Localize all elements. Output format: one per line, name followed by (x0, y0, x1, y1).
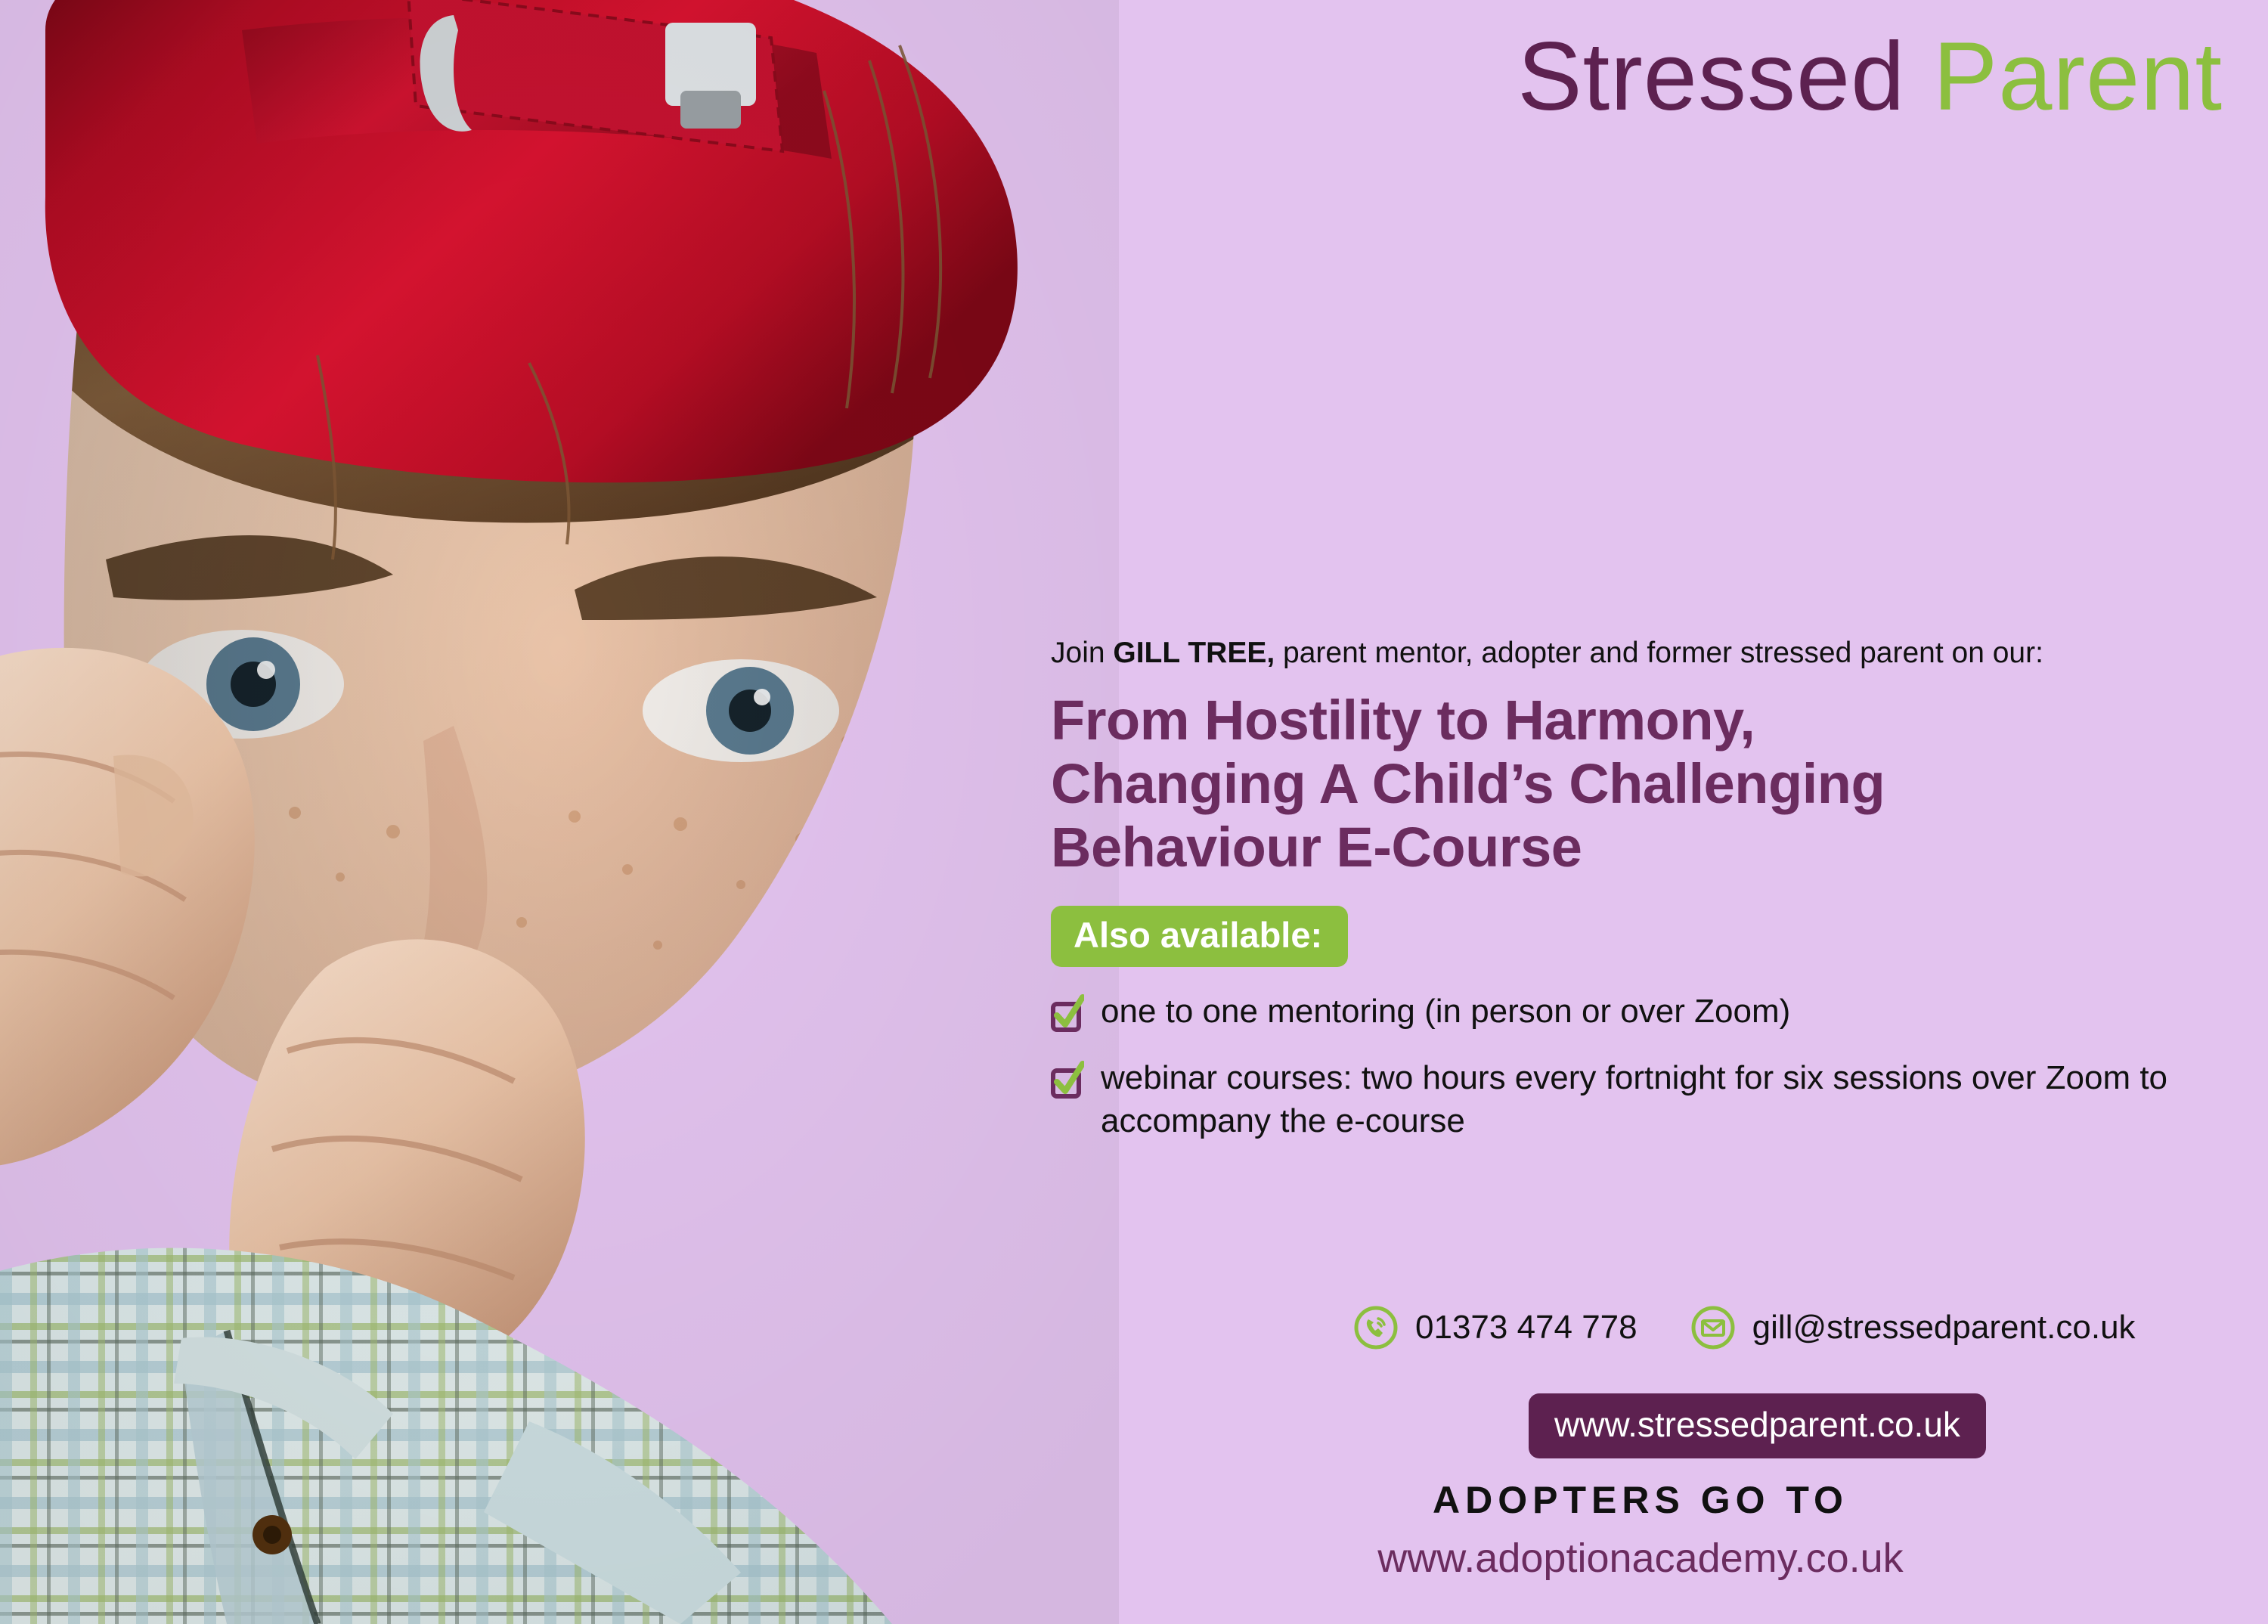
checkbox-checked-icon (1051, 994, 1084, 1034)
checkbox-checked-icon (1051, 1061, 1084, 1100)
content-column: Join GILL TREE, parent mentor, adopter a… (1051, 635, 2230, 1166)
also-available-badge: Also available: (1051, 906, 1348, 967)
list-item: one to one mentoring (in person or over … (1051, 990, 2230, 1034)
phone-icon (1353, 1305, 1399, 1350)
page-title: From Hostility to Harmony, Changing A Ch… (1051, 689, 2230, 880)
list-item: webinar courses: two hours every fortnig… (1051, 1056, 2230, 1142)
brand-logo: Stressed Parent (1517, 29, 2223, 126)
presenter-name: GILL TREE, (1113, 637, 1275, 669)
phone-number: 01373 474 778 (1415, 1309, 1637, 1347)
list-item-label: webinar courses: two hours every fortnig… (1101, 1056, 2230, 1142)
headline-line-2: Changing A Child’s Challenging (1051, 752, 2230, 816)
logo-word-parent: Parent (1933, 23, 2223, 131)
headline-line-1: From Hostility to Harmony, (1051, 689, 2230, 752)
intro-suffix: parent mentor, adopter and former stress… (1275, 637, 2043, 669)
intro-prefix: Join (1051, 637, 1113, 669)
adopters-label: ADOPTERS GO TO (1051, 1478, 2230, 1522)
intro-line: Join GILL TREE, parent mentor, adopter a… (1051, 635, 2230, 672)
email-address: gill@stressedparent.co.uk (1752, 1309, 2136, 1347)
website-badge[interactable]: www.stressedparent.co.uk (1529, 1393, 1986, 1458)
email-contact[interactable]: gill@stressedparent.co.uk (1690, 1305, 2136, 1350)
phone-contact[interactable]: 01373 474 778 (1353, 1305, 1637, 1350)
contact-row: 01373 474 778 gill@stressedparent.co.uk (1353, 1305, 2136, 1350)
hero-photo (0, 0, 1119, 1624)
list-item-label: one to one mentoring (in person or over … (1101, 990, 1790, 1033)
advertisement-poster: Stressed Parent Join GILL TREE, parent m… (0, 0, 2268, 1624)
logo-word-stressed: Stressed (1517, 23, 1905, 131)
email-icon (1690, 1305, 1736, 1350)
offerings-list: one to one mentoring (in person or over … (1051, 990, 2230, 1142)
adopters-url[interactable]: www.adoptionacademy.co.uk (1051, 1535, 2230, 1582)
headline-line-3: Behaviour E-Course (1051, 816, 2230, 879)
